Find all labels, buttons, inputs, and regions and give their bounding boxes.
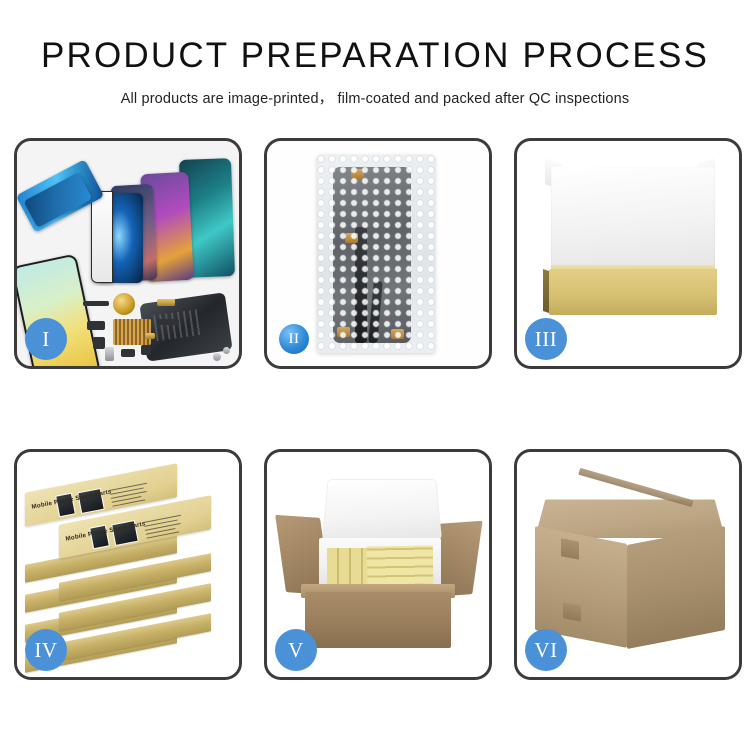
white-box-lid-icon (551, 167, 715, 275)
foam-box-lid-icon (322, 479, 442, 540)
carton-front-icon (305, 592, 451, 648)
spare-part-icon (83, 301, 109, 306)
kraft-box-front-icon (549, 269, 717, 315)
spare-part-silver-icon (105, 347, 114, 361)
bubble-wrap-overlay-icon (317, 155, 435, 353)
process-step-grid: I II III (14, 138, 736, 680)
retail-boxes-inside-secondary-icon (367, 545, 434, 584)
process-step-panel-6: VI (514, 449, 742, 680)
spare-part-icon (141, 345, 151, 355)
process-step-panel-4: Mobile Phone Spare Parts Mobile Phone Sp… (14, 449, 242, 680)
screw-icon (223, 347, 230, 354)
phone-white-frame-icon (91, 191, 113, 283)
process-step-panel-3: III (514, 138, 742, 369)
step-badge-1: I (25, 318, 67, 360)
step-badge-5: V (275, 629, 317, 671)
step-badge-2: II (279, 324, 309, 354)
carton-right-face-icon (627, 526, 725, 649)
step-badge-4: IV (25, 629, 67, 671)
screw-icon (213, 353, 221, 361)
phone-back-housing-icon (139, 292, 232, 361)
page-title: PRODUCT PREPARATION PROCESS (0, 38, 750, 75)
process-step-panel-5: V (264, 449, 492, 680)
process-step-panel-1: I (14, 138, 242, 369)
spare-part-gold-icon (157, 299, 175, 306)
process-step-panel-2: II (264, 138, 492, 369)
spare-part-gold-icon (145, 333, 155, 339)
spare-part-icon (121, 349, 135, 357)
step-badge-6: VI (525, 629, 567, 671)
coil-part-icon (113, 293, 135, 315)
spare-part-icon (157, 319, 179, 325)
carton-tape-upper-icon (561, 538, 579, 559)
step-badge-3: III (525, 318, 567, 360)
chip-grid-icon (113, 319, 151, 345)
spare-part-icon (87, 321, 105, 330)
spare-part-icon (93, 337, 105, 349)
carton-tape-lower-icon (563, 602, 581, 621)
page-header: PRODUCT PREPARATION PROCESS All products… (0, 0, 750, 108)
page-subtitle: All products are image-printed， film-coa… (0, 87, 750, 108)
